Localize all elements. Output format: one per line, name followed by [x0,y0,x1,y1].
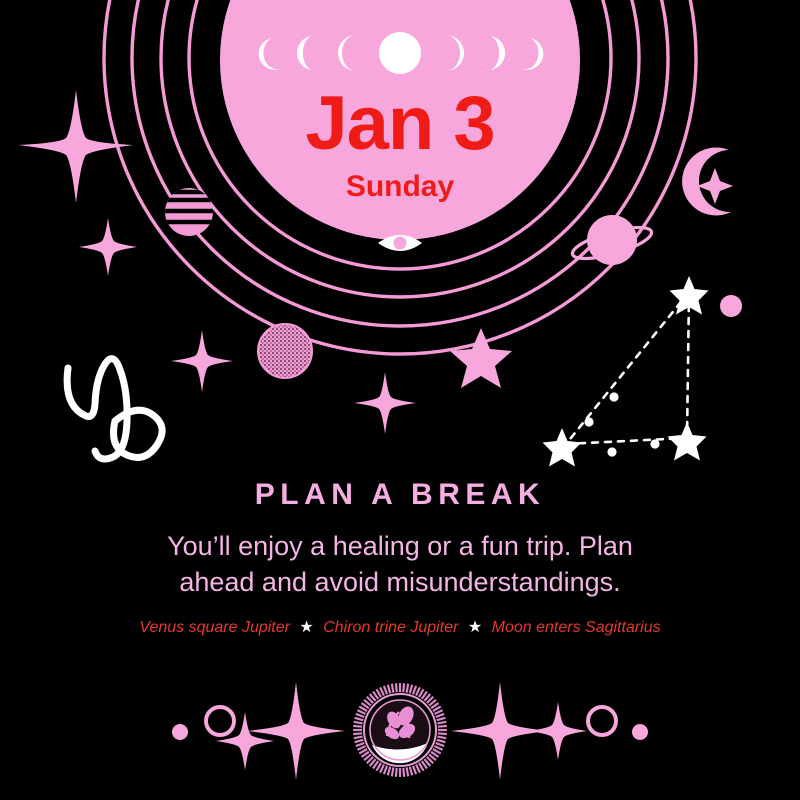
horoscope-body: You’ll enjoy a healing or a fun trip. Pl… [110,528,690,601]
sparkle-right-dot [720,295,742,317]
saturn-planet [570,215,655,265]
horoscope-headline: PLAN A BREAK [0,478,800,511]
body-line-2: ahead and avoid misunderstandings. [179,567,620,597]
footer-sparkle-large-left [247,682,345,780]
footer-dot-left [172,724,188,740]
background-art [0,0,800,800]
transit-item-2: Chiron trine Jupiter [323,619,458,636]
constellation-line-3 [566,438,687,444]
transit-item-1: Venus square Jupiter [139,619,290,636]
textured-planet [258,324,312,378]
constellation-stars [543,276,709,467]
footer-circle-right [588,707,616,735]
moon-phase-4 [379,32,421,74]
sparkle-mid-left [171,330,233,392]
constellation-dots [584,392,659,456]
crescent-moon-icon [682,147,733,215]
sparkle-mid-center [354,372,416,434]
horoscope-card: Jan 3 Sunday PLAN A BREAK You’ll enjoy a… [0,0,800,800]
capricorn-glyph [67,359,162,459]
body-line-1: You’ll enjoy a healing or a fun trip. Pl… [167,531,633,561]
sparkle-large-left [18,90,134,203]
footer-sparkle-small-left [216,712,274,770]
footer-circle-left [206,707,234,735]
transit-list: Venus square Jupiter ★ Chiron trine Jupi… [40,618,760,637]
constellation-line-1 [566,292,689,444]
footer-sparkle-small-right [529,702,587,760]
star-separator-icon: ★ [463,619,487,636]
footer-dot-right [632,724,648,740]
floral-seal-logo[interactable] [353,683,447,777]
constellation-line-2 [687,292,689,438]
triangle-constellation [543,276,709,467]
star-separator-icon: ★ [294,619,318,636]
transit-item-3: Moon enters Sagittarius [492,619,661,636]
sparkle-small-left [79,218,137,276]
